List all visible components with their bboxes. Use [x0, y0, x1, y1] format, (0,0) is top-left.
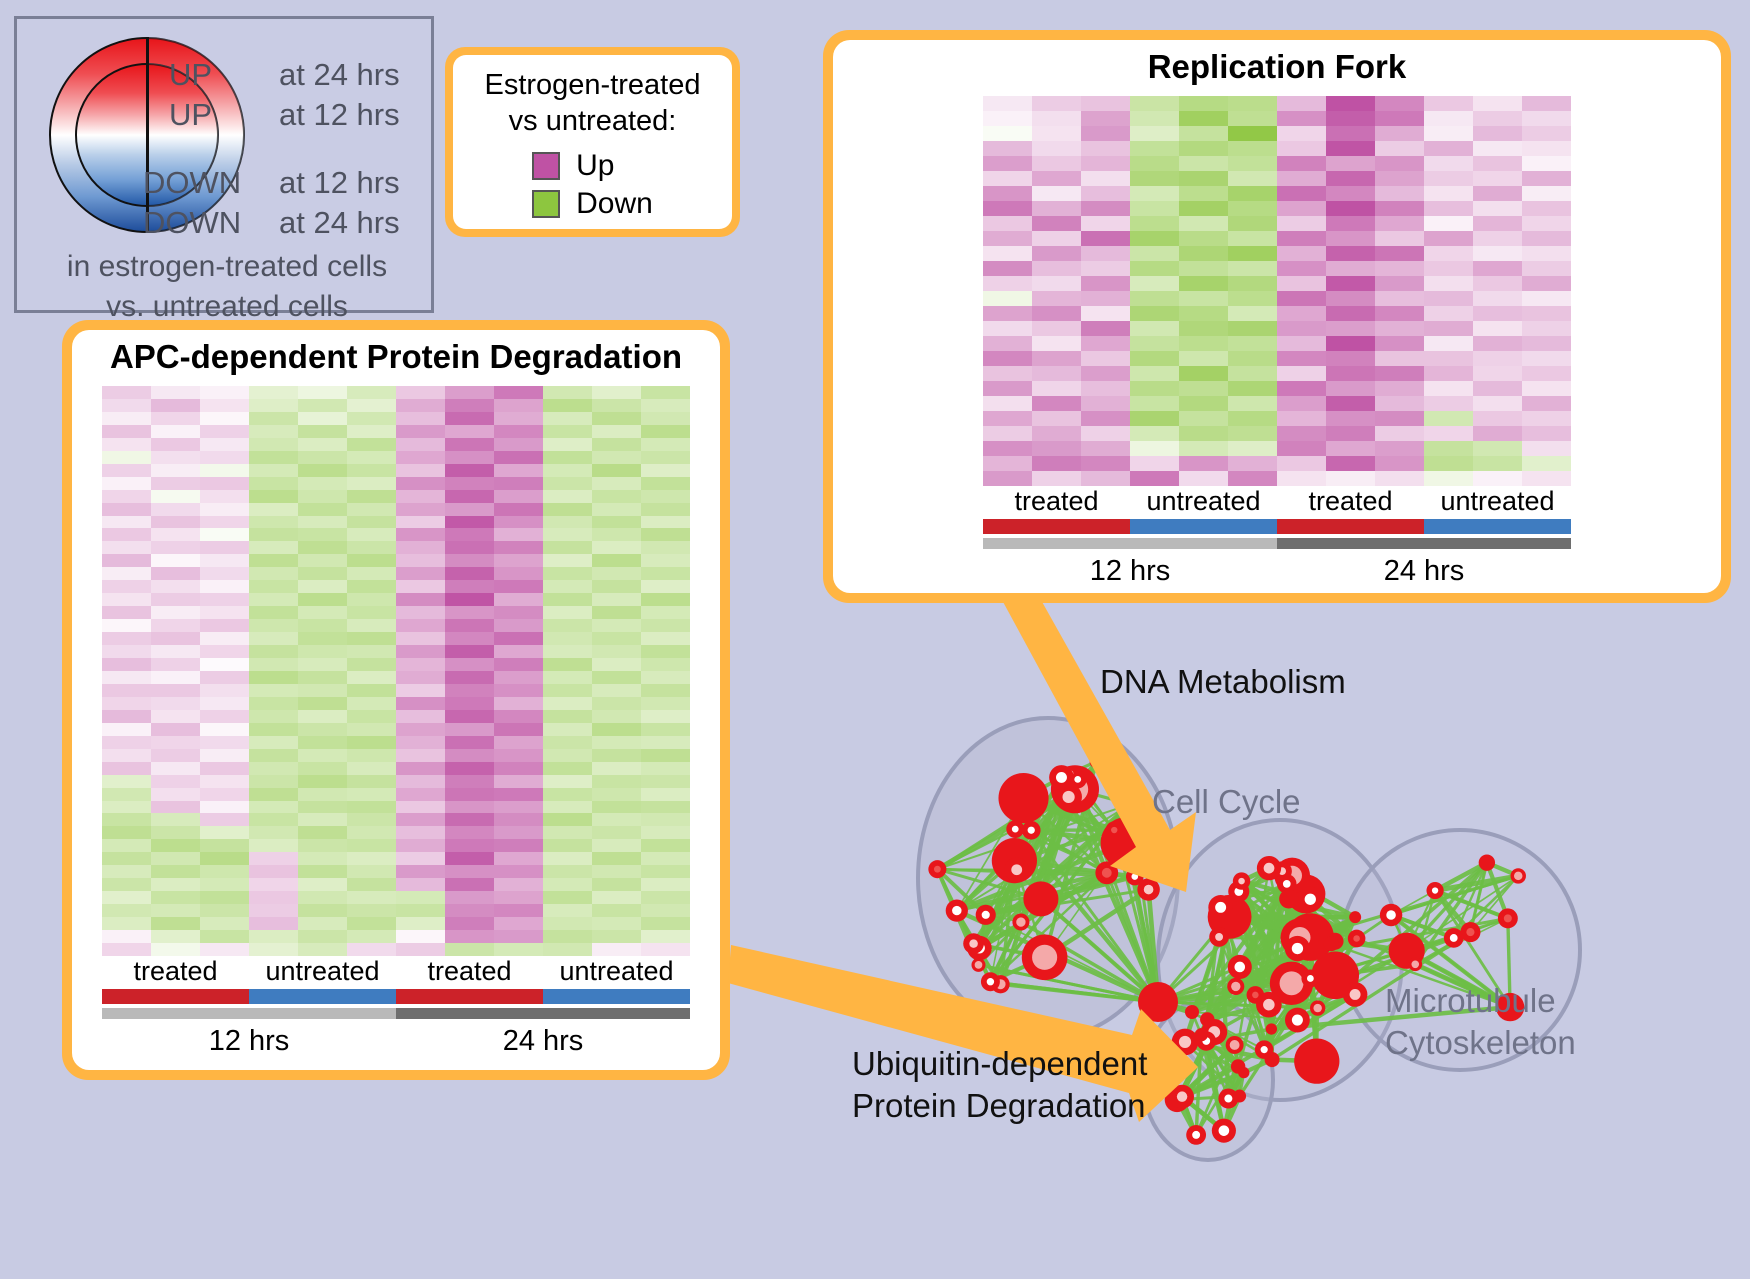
- time-color-bar-apc: [102, 1008, 690, 1019]
- panel-title-apc: APC-dependent Protein Degradation: [110, 338, 682, 376]
- circle-color-key: UP at 24 hrs UP at 12 hrs DOWN at 12 hrs…: [14, 16, 434, 313]
- group-label-apc-3: untreated: [543, 956, 690, 987]
- group-bar-rf-0: [983, 519, 1130, 534]
- network-node: [1090, 755, 1104, 769]
- network-node-core: [1283, 880, 1291, 888]
- heatmap-replication-fork: [983, 96, 1571, 486]
- heatmap-axis-apc: treated untreated treated untreated 12 h: [102, 956, 690, 1058]
- network-node-core: [934, 866, 941, 873]
- cluster-label-ubiquitin-protein-degradation: Ubiquitin-dependent Protein Degradation: [852, 1043, 1147, 1127]
- group-label-apc-0: treated: [102, 956, 249, 987]
- network-node: [998, 773, 1048, 823]
- group-label-apc-1: untreated: [249, 956, 396, 987]
- network-node-core: [1353, 935, 1360, 942]
- network-node-core: [1111, 827, 1117, 833]
- panel-title-replication-fork: Replication Fork: [1148, 48, 1407, 86]
- group-color-bar-rf: [983, 519, 1571, 534]
- time-bar-rf-12: [983, 538, 1277, 549]
- figure-canvas: UP at 24 hrs UP at 12 hrs DOWN at 12 hrs…: [0, 0, 1750, 1279]
- panel-apc-inner: APC-dependent Protein Degradation treate…: [72, 330, 720, 1070]
- network-node-core: [1230, 1040, 1240, 1050]
- time-color-bar-rf: [983, 538, 1571, 549]
- network-node-core: [1219, 1125, 1230, 1136]
- group-bar-rf-2: [1277, 519, 1424, 534]
- network-node-core: [952, 906, 961, 915]
- legend-item-down: Down: [532, 187, 653, 221]
- network-node: [1238, 1067, 1249, 1078]
- group-bar-apc-0: [102, 989, 249, 1004]
- time-label-apc-24: 24 hrs: [396, 1019, 690, 1058]
- network-node-core: [1144, 885, 1154, 895]
- network-node: [1294, 1039, 1339, 1084]
- network-node-core: [1450, 934, 1458, 942]
- network-node-core: [1131, 873, 1138, 880]
- network-node: [1195, 1028, 1208, 1041]
- network-node: [1279, 889, 1298, 908]
- group-label-rf-1: untreated: [1130, 486, 1277, 517]
- network-node-core: [1215, 902, 1226, 913]
- group-bar-apc-2: [396, 989, 543, 1004]
- heatmap-apc: [102, 386, 690, 956]
- network-node-core: [1263, 999, 1275, 1011]
- key-label-down-12: DOWN: [143, 165, 241, 201]
- network-node: [1324, 936, 1339, 951]
- time-label-rf-12: 12 hrs: [983, 549, 1277, 588]
- network-node-core: [982, 911, 990, 919]
- group-label-row-apc: treated untreated treated untreated: [102, 956, 690, 987]
- network-node-core: [1179, 1036, 1191, 1048]
- key-time-down-12: at 12 hrs: [279, 165, 400, 201]
- network-node-core: [1234, 962, 1245, 973]
- time-bar-rf-24: [1277, 538, 1571, 549]
- network-node-core: [1056, 772, 1067, 783]
- pathway-network-graph: [800, 620, 1750, 1279]
- time-bar-apc-12: [102, 1008, 396, 1019]
- network-node-core: [1224, 1095, 1232, 1103]
- network-node: [1185, 1005, 1199, 1019]
- updown-title-line2: vs untreated:: [509, 103, 677, 139]
- network-node-core: [1011, 864, 1022, 875]
- updown-title-line1: Estrogen-treated: [484, 67, 700, 103]
- group-bar-apc-1: [249, 989, 396, 1004]
- cluster-label-mt-line1: Microtubule: [1385, 980, 1576, 1022]
- network-node-core: [1032, 945, 1057, 970]
- network-node-core: [1514, 872, 1523, 881]
- panel-apc-dependent-protein-degradation: APC-dependent Protein Degradation treate…: [62, 320, 730, 1080]
- cluster-label-dna-metabolism: DNA Metabolism: [1100, 663, 1346, 701]
- network-node-core: [1231, 982, 1240, 991]
- group-label-apc-2: treated: [396, 956, 543, 987]
- updown-color-key: Estrogen-treated vs untreated: Up Down: [445, 47, 740, 237]
- panel-replication-fork: Replication Fork treated untreated treat…: [823, 30, 1731, 603]
- network-node-core: [1292, 943, 1303, 954]
- group-color-bar-apc: [102, 989, 690, 1004]
- cluster-label-ub-line1: Ubiquitin-dependent: [852, 1043, 1147, 1085]
- network-node-core: [1432, 887, 1438, 893]
- network-node-core: [1411, 960, 1419, 968]
- network-node: [1023, 881, 1058, 916]
- network-node-core: [1192, 1131, 1200, 1139]
- network-node-core: [1238, 878, 1244, 884]
- network-node-core: [1313, 1004, 1321, 1012]
- network-node-core: [969, 939, 978, 948]
- network-node-core: [1386, 910, 1396, 920]
- key-label-up-24: UP: [169, 57, 212, 93]
- group-label-row-rf: treated untreated treated untreated: [983, 486, 1571, 517]
- legend-item-up: Up: [532, 149, 653, 183]
- time-label-apc-12: 12 hrs: [102, 1019, 396, 1058]
- panel-replication-fork-inner: Replication Fork treated untreated treat…: [833, 40, 1721, 593]
- key-time-up-24: at 24 hrs: [279, 57, 400, 93]
- network-node: [1138, 982, 1178, 1022]
- network-node-core: [1062, 791, 1074, 803]
- group-bar-apc-3: [543, 989, 690, 1004]
- key-footer-line1: in estrogen-treated cells: [17, 247, 437, 287]
- network-node: [1266, 1023, 1277, 1034]
- network-node: [1349, 911, 1361, 923]
- down-swatch-icon: [532, 190, 560, 218]
- network-node-core: [1350, 989, 1361, 1000]
- network-node-core: [1177, 1091, 1187, 1101]
- network-node-core: [1305, 894, 1316, 905]
- cluster-label-ub-line2: Protein Degradation: [852, 1085, 1147, 1127]
- network-node-core: [1292, 1015, 1303, 1026]
- network-node-core: [1252, 992, 1259, 999]
- network-node-core: [1102, 868, 1112, 878]
- network-node-core: [1280, 971, 1304, 995]
- cluster-label-mt-line2: Cytoskeleton: [1385, 1022, 1576, 1064]
- group-bar-rf-3: [1424, 519, 1571, 534]
- key-time-down-24: at 24 hrs: [279, 205, 400, 241]
- cluster-label-microtubule-cytoskeleton: Microtubule Cytoskeleton: [1385, 980, 1576, 1064]
- network-node-core: [1307, 975, 1314, 982]
- key-time-up-12: at 12 hrs: [279, 97, 400, 133]
- updown-key-inner: Estrogen-treated vs untreated: Up Down: [453, 55, 732, 229]
- network-node-core: [1504, 914, 1512, 922]
- up-label: Up: [576, 149, 614, 183]
- network-node-core: [1215, 933, 1223, 941]
- network-node-core: [1261, 1046, 1268, 1053]
- network-node-core: [1074, 776, 1081, 783]
- network-node: [1479, 854, 1495, 870]
- network-node-core: [987, 978, 994, 985]
- group-bar-rf-1: [1130, 519, 1277, 534]
- group-label-rf-0: treated: [983, 486, 1130, 517]
- network-node-core: [1125, 799, 1135, 809]
- network-node-core: [1028, 827, 1035, 834]
- key-label-up-12: UP: [169, 97, 212, 133]
- time-bar-apc-24: [396, 1008, 690, 1019]
- down-label: Down: [576, 187, 653, 221]
- key-label-down-24: DOWN: [143, 205, 241, 241]
- up-swatch-icon: [532, 152, 560, 180]
- cluster-label-cell-cycle: Cell Cycle: [1152, 783, 1301, 821]
- network-node-core: [1264, 863, 1275, 874]
- network-node-core: [975, 961, 983, 969]
- network-node-core: [1012, 826, 1019, 833]
- network-node-core: [1016, 917, 1025, 926]
- time-label-row-apc: 12 hrs 24 hrs: [102, 1019, 690, 1058]
- time-label-rf-24: 24 hrs: [1277, 549, 1571, 588]
- network-node-core: [1466, 928, 1474, 936]
- heatmap-axis-replication-fork: treated untreated treated untreated 12 h: [983, 486, 1571, 588]
- time-label-row-rf: 12 hrs 24 hrs: [983, 549, 1571, 588]
- group-label-rf-3: untreated: [1424, 486, 1571, 517]
- group-label-rf-2: treated: [1277, 486, 1424, 517]
- circle-key-footer: in estrogen-treated cells vs. untreated …: [17, 247, 437, 327]
- ring-divider: [146, 37, 149, 233]
